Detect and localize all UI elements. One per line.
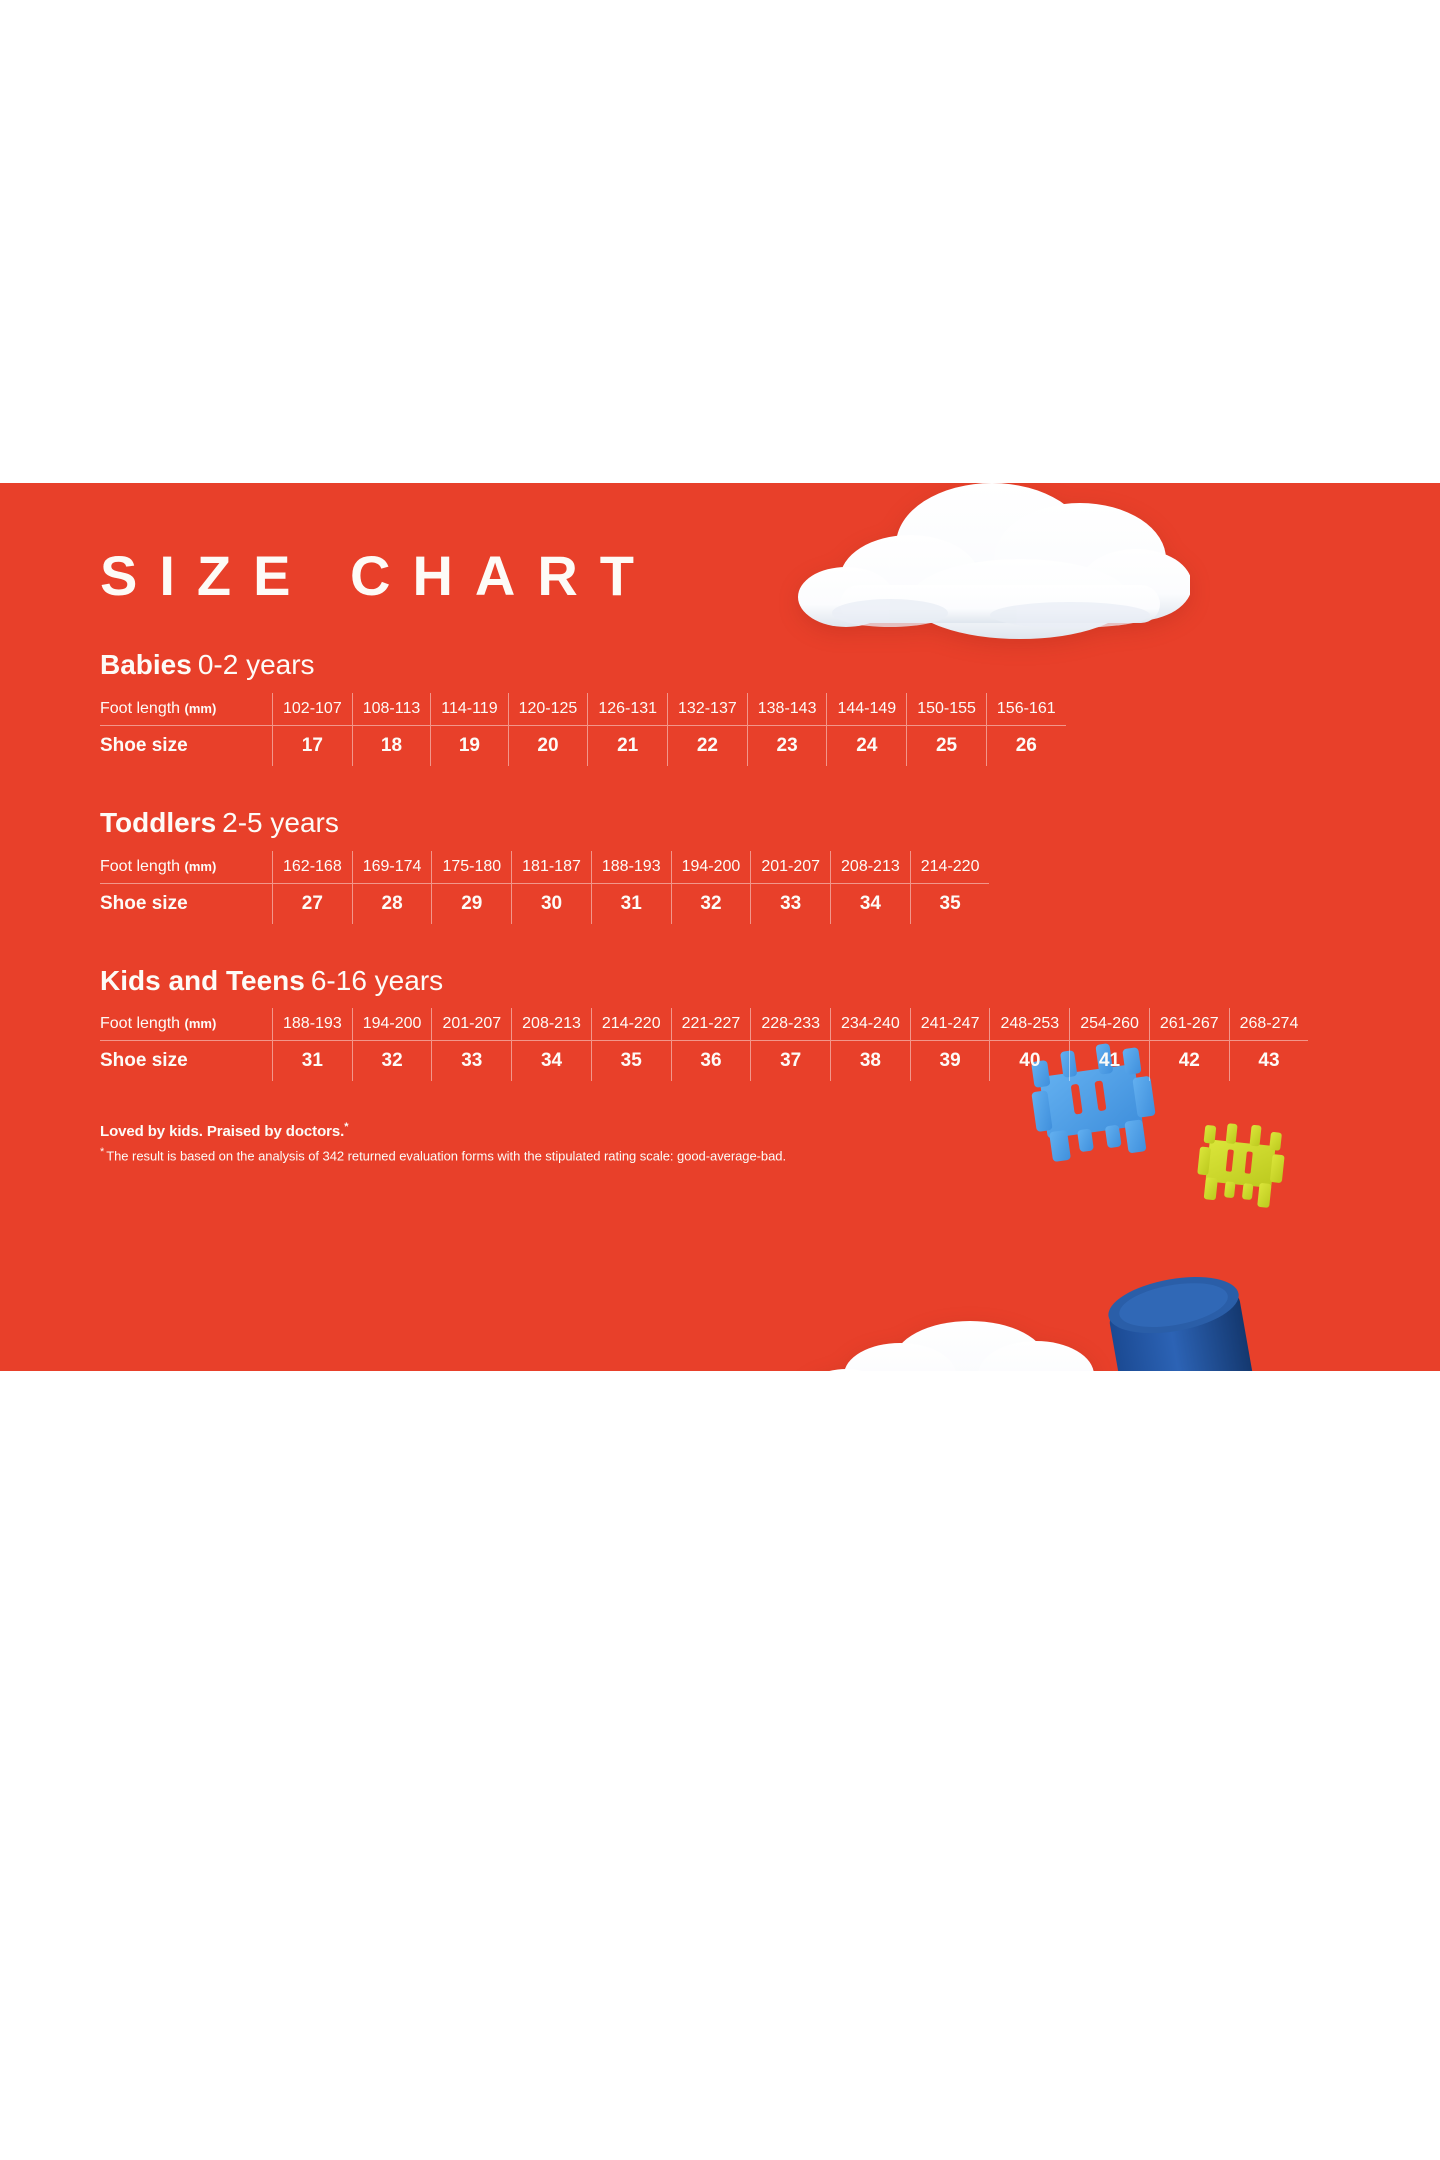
- cell-shoe-size: 36: [671, 1041, 751, 1082]
- cell-foot-length: 201-207: [432, 1008, 512, 1041]
- row-label-foot-length: Foot length (mm): [100, 693, 273, 726]
- cell-shoe-size: 37: [751, 1041, 831, 1082]
- cell-shoe-size: 26: [986, 725, 1065, 766]
- cell-foot-length: 234-240: [831, 1008, 911, 1041]
- cell-foot-length: 169-174: [352, 851, 432, 884]
- section-heading-kids-and-teens: Kids and Teens6-16 years: [100, 966, 1330, 997]
- cell-foot-length: 108-113: [352, 693, 431, 726]
- cell-foot-length: 208-213: [512, 1008, 592, 1041]
- cell-shoe-size: 35: [910, 883, 989, 924]
- cell-foot-length: 162-168: [273, 851, 353, 884]
- cell-foot-length: 132-137: [668, 693, 748, 726]
- page-root: SIZE CHART Babies0-2 years Foot length (…: [0, 0, 1440, 2160]
- section-heading-toddlers: Toddlers2-5 years: [100, 808, 1330, 839]
- cell-foot-length: 126-131: [588, 693, 668, 726]
- cell-shoe-size: 38: [831, 1041, 911, 1082]
- cell-foot-length: 150-155: [907, 693, 987, 726]
- row-label-unit: (mm): [185, 701, 217, 716]
- row-label-text: Foot length: [100, 700, 180, 717]
- cell-shoe-size: 17: [273, 725, 353, 766]
- table-row: Shoe size 27 28 29 30 31 32 33 34 35: [100, 883, 989, 924]
- section-age-label: 2-5 years: [222, 807, 339, 838]
- cell-shoe-size: 43: [1229, 1041, 1308, 1082]
- section-toddlers: Toddlers2-5 years Foot length (mm) 162-1…: [100, 808, 1330, 924]
- cell-foot-length: 194-200: [671, 851, 751, 884]
- cell-shoe-size: 24: [827, 725, 907, 766]
- footnote-text: The result is based on the analysis of 3…: [106, 1149, 786, 1164]
- cell-foot-length: 268-274: [1229, 1008, 1308, 1041]
- table-row: Shoe size 31 32 33 34 35 36 37 38 39 40 …: [100, 1041, 1308, 1082]
- cell-shoe-size: 28: [352, 883, 432, 924]
- cell-shoe-size: 33: [751, 883, 831, 924]
- cell-foot-length: 228-233: [751, 1008, 831, 1041]
- page-title: SIZE CHART: [100, 548, 1330, 604]
- cell-shoe-size: 18: [352, 725, 431, 766]
- cell-shoe-size: 27: [273, 883, 353, 924]
- footnote-asterisk: *: [100, 1146, 104, 1158]
- cell-shoe-size: 25: [907, 725, 987, 766]
- cell-foot-length: 241-247: [910, 1008, 990, 1041]
- section-group-label: Toddlers: [100, 807, 216, 838]
- cell-shoe-size: 34: [831, 883, 911, 924]
- cell-foot-length: 138-143: [747, 693, 827, 726]
- table-row: Foot length (mm) 102-107 108-113 114-119…: [100, 693, 1066, 726]
- section-babies: Babies0-2 years Foot length (mm) 102-107…: [100, 650, 1330, 766]
- cell-shoe-size: 31: [273, 1041, 353, 1082]
- row-label-foot-length: Foot length (mm): [100, 1008, 273, 1041]
- section-age-label: 0-2 years: [198, 649, 315, 680]
- section-heading-babies: Babies0-2 years: [100, 650, 1330, 681]
- cell-shoe-size: 33: [432, 1041, 512, 1082]
- tagline-asterisk: *: [344, 1121, 348, 1133]
- cell-shoe-size: 32: [671, 883, 751, 924]
- cell-shoe-size: 22: [668, 725, 748, 766]
- tagline-text: Loved by kids. Praised by doctors.: [100, 1123, 344, 1140]
- size-table-toddlers: Foot length (mm) 162-168 169-174 175-180…: [100, 851, 989, 924]
- cell-foot-length: 208-213: [831, 851, 911, 884]
- row-label-text: Foot length: [100, 1015, 180, 1032]
- cell-shoe-size: 23: [747, 725, 827, 766]
- cell-shoe-size: 30: [512, 883, 592, 924]
- section-group-label: Babies: [100, 649, 192, 680]
- row-label-unit: (mm): [185, 859, 217, 874]
- footnotes: Loved by kids. Praised by doctors.* *The…: [100, 1121, 1330, 1163]
- cell-foot-length: 102-107: [273, 693, 353, 726]
- cell-foot-length: 175-180: [432, 851, 512, 884]
- cell-shoe-size: 35: [591, 1041, 671, 1082]
- size-table-kids-and-teens: Foot length (mm) 188-193 194-200 201-207…: [100, 1008, 1308, 1081]
- row-label-foot-length: Foot length (mm): [100, 851, 273, 884]
- table-row: Shoe size 17 18 19 20 21 22 23 24 25 26: [100, 725, 1066, 766]
- cell-foot-length: 194-200: [352, 1008, 432, 1041]
- row-label-shoe-size: Shoe size: [100, 725, 273, 766]
- cell-foot-length: 181-187: [512, 851, 592, 884]
- cloud-bottom-shape: [790, 1313, 1120, 1371]
- section-kids-and-teens: Kids and Teens6-16 years Foot length (mm…: [100, 966, 1330, 1082]
- cell-foot-length: 214-220: [910, 851, 989, 884]
- cell-shoe-size: 29: [432, 883, 512, 924]
- cell-foot-length: 261-267: [1149, 1008, 1229, 1041]
- cell-shoe-size: 42: [1149, 1041, 1229, 1082]
- cell-foot-length: 254-260: [1070, 1008, 1150, 1041]
- tagline: Loved by kids. Praised by doctors.*: [100, 1121, 1330, 1140]
- cell-foot-length: 156-161: [986, 693, 1065, 726]
- size-table-babies: Foot length (mm) 102-107 108-113 114-119…: [100, 693, 1066, 766]
- row-label-shoe-size: Shoe size: [100, 1041, 273, 1082]
- cell-shoe-size: 40: [990, 1041, 1070, 1082]
- table-row: Foot length (mm) 188-193 194-200 201-207…: [100, 1008, 1308, 1041]
- section-age-label: 6-16 years: [311, 965, 443, 996]
- cell-shoe-size: 39: [910, 1041, 990, 1082]
- chart-content: SIZE CHART Babies0-2 years Foot length (…: [100, 548, 1330, 1164]
- cell-foot-length: 201-207: [751, 851, 831, 884]
- cell-foot-length: 214-220: [591, 1008, 671, 1041]
- cell-foot-length: 188-193: [273, 1008, 353, 1041]
- cell-foot-length: 248-253: [990, 1008, 1070, 1041]
- cell-foot-length: 221-227: [671, 1008, 751, 1041]
- row-label-unit: (mm): [185, 1016, 217, 1031]
- row-label-shoe-size: Shoe size: [100, 883, 273, 924]
- section-group-label: Kids and Teens: [100, 965, 305, 996]
- cell-shoe-size: 21: [588, 725, 668, 766]
- bottle-shape: [1054, 1229, 1407, 1371]
- table-row: Foot length (mm) 162-168 169-174 175-180…: [100, 851, 989, 884]
- size-chart-panel: SIZE CHART Babies0-2 years Foot length (…: [0, 483, 1440, 1371]
- cell-foot-length: 144-149: [827, 693, 907, 726]
- row-label-text: Foot length: [100, 858, 180, 875]
- cell-shoe-size: 32: [352, 1041, 432, 1082]
- cell-shoe-size: 34: [512, 1041, 592, 1082]
- cell-foot-length: 114-119: [431, 693, 508, 726]
- cell-shoe-size: 41: [1070, 1041, 1150, 1082]
- cell-foot-length: 188-193: [591, 851, 671, 884]
- cell-shoe-size: 19: [431, 725, 508, 766]
- cell-shoe-size: 20: [508, 725, 588, 766]
- footnote-note: *The result is based on the analysis of …: [100, 1146, 1330, 1163]
- cell-foot-length: 120-125: [508, 693, 588, 726]
- cell-shoe-size: 31: [591, 883, 671, 924]
